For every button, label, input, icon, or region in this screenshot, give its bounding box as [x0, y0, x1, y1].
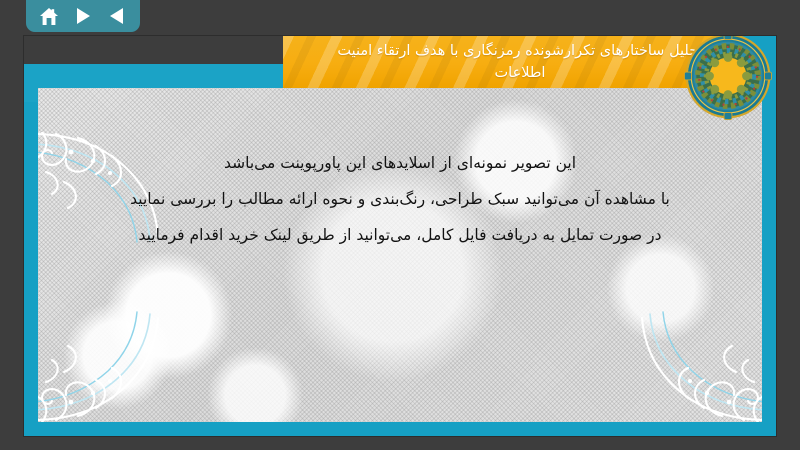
body-line-1: این تصویر نمونه‌ای از اسلایدهای این پاور…: [64, 146, 736, 182]
navigation-bar: [26, 0, 140, 32]
slide: این تصویر نمونه‌ای از اسلایدهای این پاور…: [24, 36, 776, 436]
slide-title-banner: تحلیل ساختارهای تکرارشونده رمزنگاری با ه…: [283, 36, 733, 88]
next-slide-button[interactable]: [70, 4, 96, 28]
body-line-2: با مشاهده آن می‌توانید سبک طراحی، رنگ‌بن…: [64, 182, 736, 218]
triangle-right-icon: [75, 7, 91, 25]
triangle-left-icon: [109, 7, 125, 25]
slide-body-text: این تصویر نمونه‌ای از اسلایدهای این پاور…: [38, 146, 762, 254]
home-icon: [39, 7, 59, 26]
slide-viewer: این تصویر نمونه‌ای از اسلایدهای این پاور…: [0, 0, 800, 450]
previous-slide-button[interactable]: [104, 4, 130, 28]
arabesque-corner-bottom-right-icon: [552, 302, 762, 422]
page-title: تحلیل ساختارهای تکرارشونده رمزنگاری با ه…: [283, 40, 733, 85]
islamic-medallion-icon: [684, 36, 772, 120]
slide-content-surface: این تصویر نمونه‌ای از اسلایدهای این پاور…: [38, 88, 762, 422]
body-line-3: در صورت تمایل به دریافت فایل کامل، می‌تو…: [64, 218, 736, 254]
arabesque-corner-bottom-left-icon: [38, 302, 248, 422]
home-button[interactable]: [36, 4, 62, 28]
